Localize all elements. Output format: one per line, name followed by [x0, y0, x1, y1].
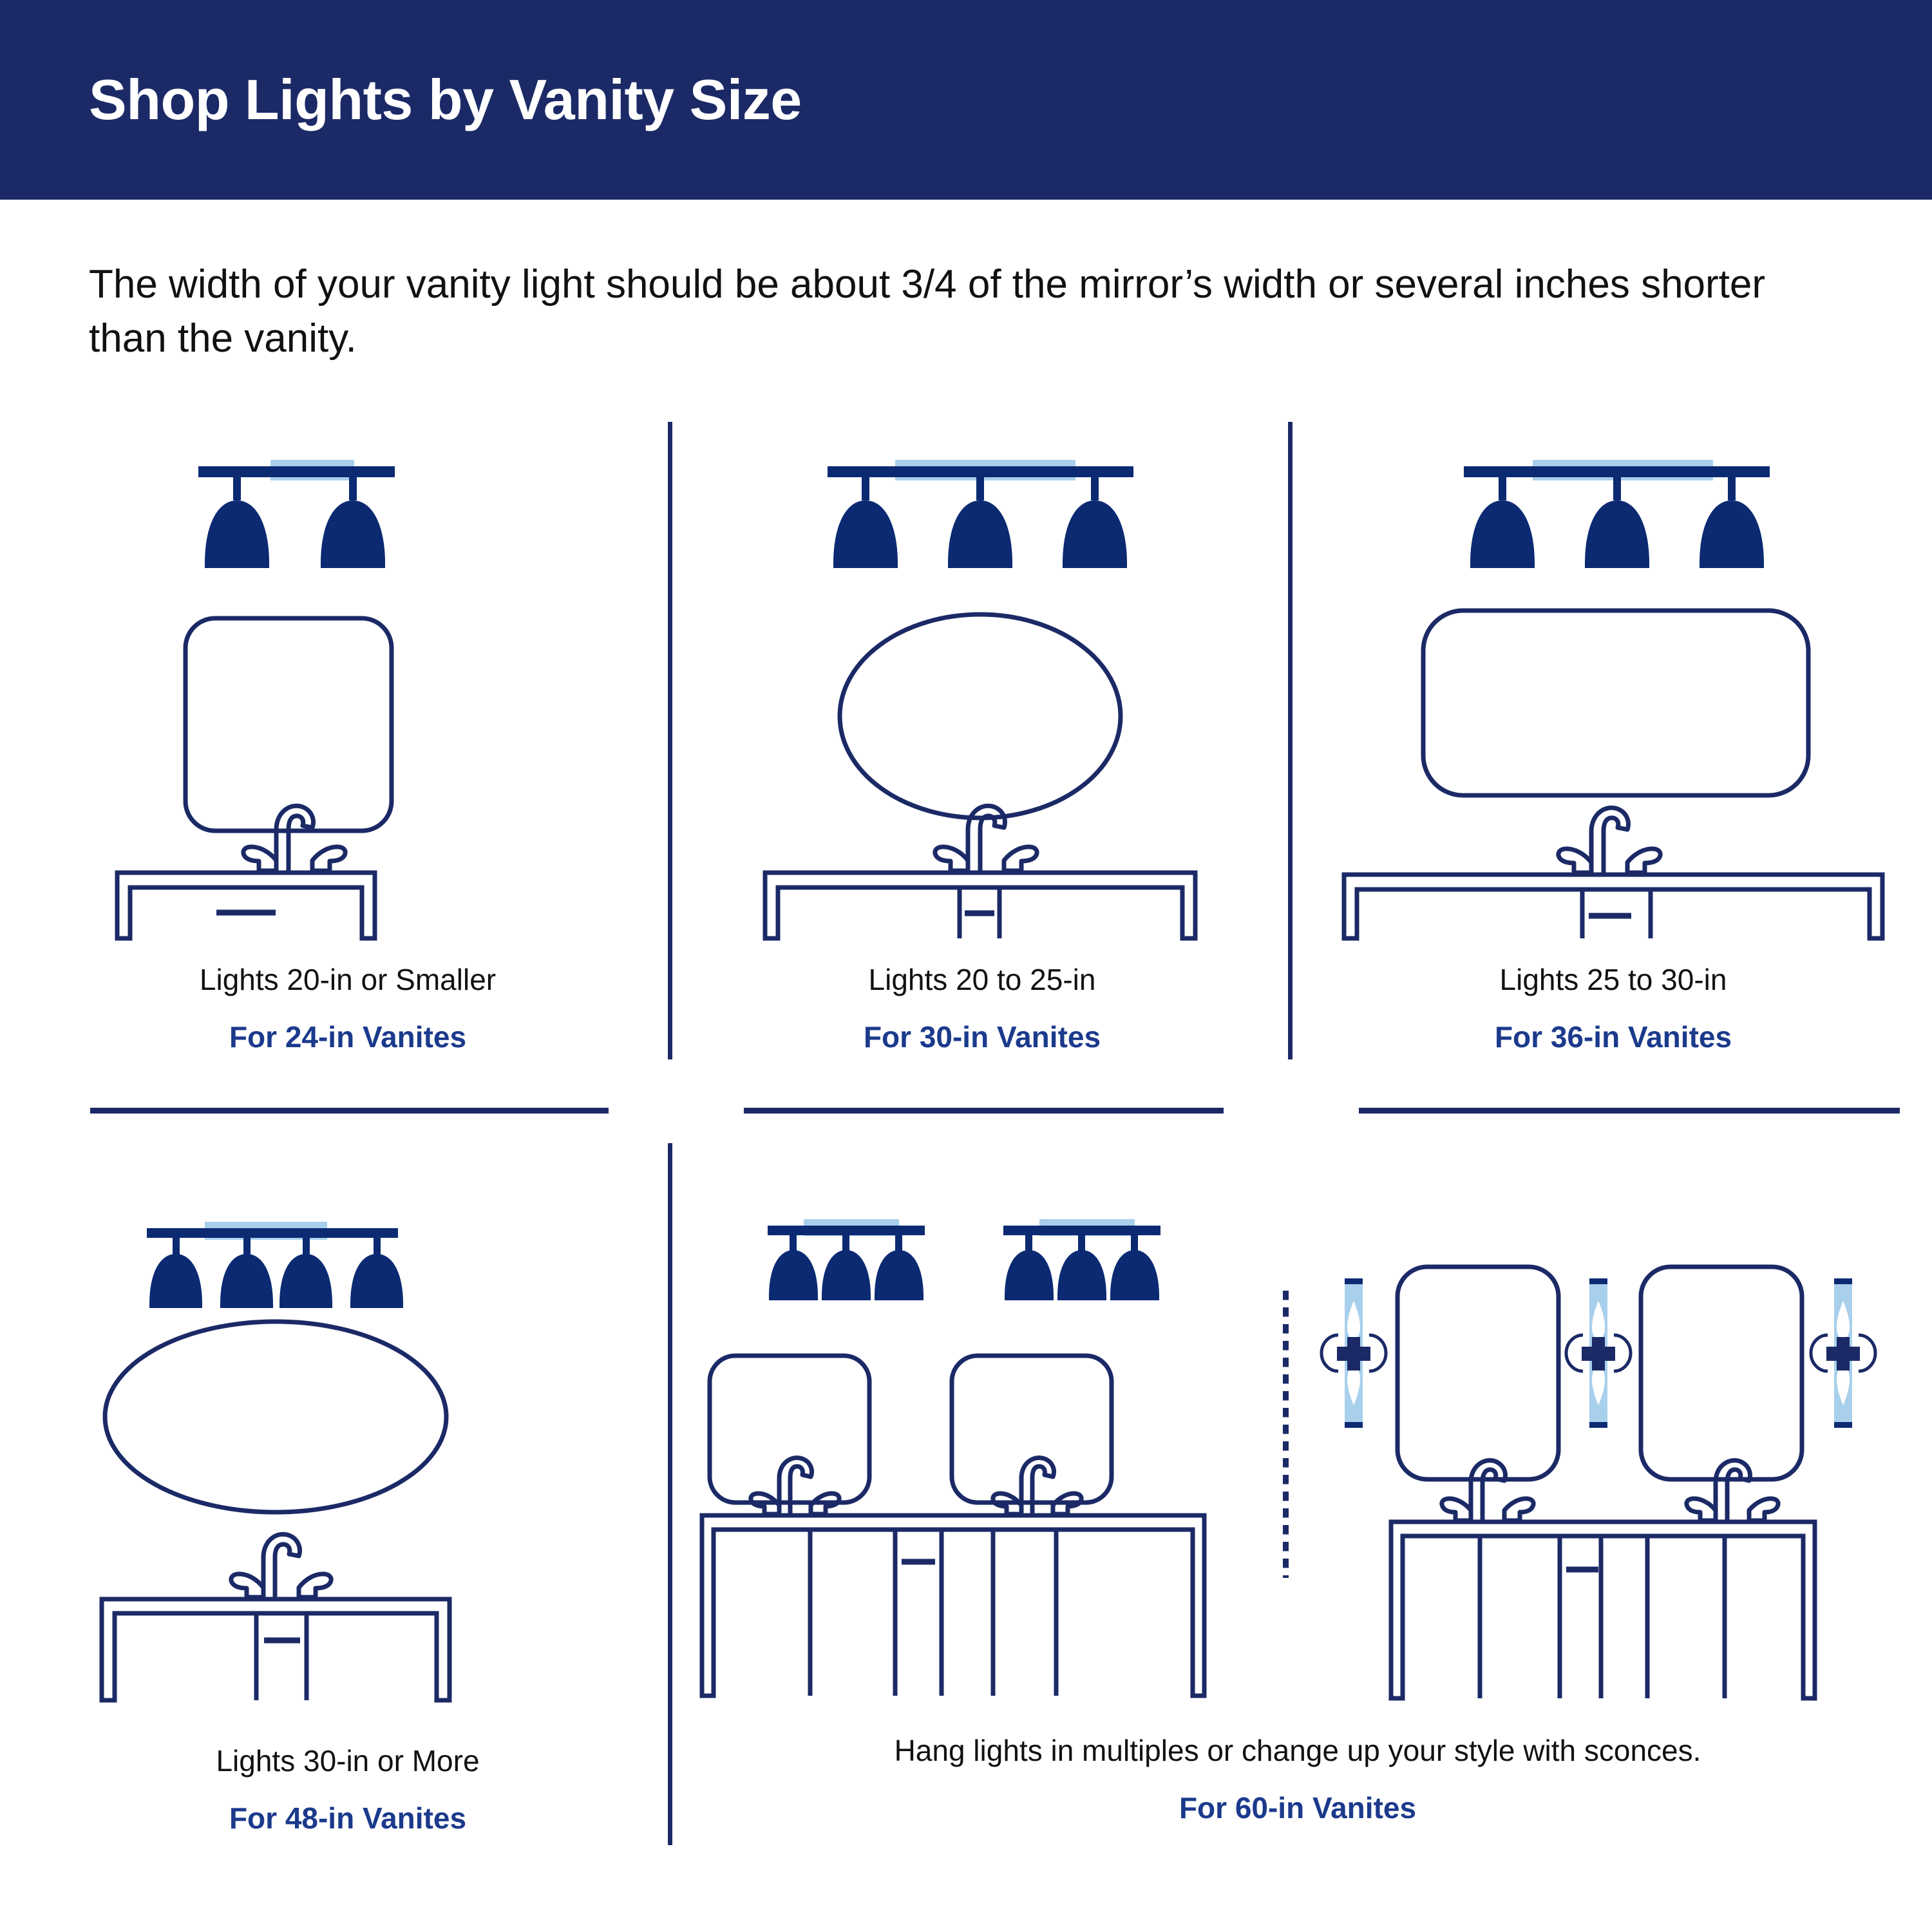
light-shade-icon — [1700, 500, 1764, 568]
panel-36in-caption-sub: For 36-in Vanites — [1330, 1020, 1897, 1055]
vanity-cabinet-icon — [765, 873, 1195, 938]
vanity-illustration-48in — [90, 1214, 605, 1703]
page-header: Shop Lights by Vanity Size — [0, 0, 1932, 200]
vanity-cabinet-icon — [102, 1599, 450, 1700]
light-shade-icon — [1585, 500, 1649, 568]
light-shade-icon — [205, 500, 269, 568]
faucet-icon — [993, 1457, 1081, 1515]
vanity-illustration-36in — [1330, 451, 1897, 940]
wall-sconce-icon — [1566, 1278, 1631, 1428]
wall-sconce-icon — [1321, 1278, 1386, 1428]
panel-48in-caption-sub: For 48-in Vanites — [90, 1801, 605, 1836]
divider-vertical-top-1 — [668, 422, 672, 1059]
faucet-icon — [1442, 1461, 1533, 1522]
mirror-icon — [1397, 1267, 1558, 1479]
light-shade-icon — [149, 1254, 202, 1308]
vanity-cabinet-icon — [117, 873, 375, 938]
panel-30in-illustration — [708, 451, 1256, 940]
panel-60in-illustration — [696, 1214, 1900, 1703]
divider-horizontal-1 — [90, 1108, 609, 1114]
light-shade-icon — [875, 1250, 923, 1300]
divider-horizontal-3 — [1359, 1108, 1900, 1114]
panel-24in-illustration — [90, 451, 605, 940]
panel-30in-caption-sub: For 30-in Vanites — [708, 1020, 1256, 1055]
divider-vertical-top-2 — [1288, 422, 1293, 1059]
divider-horizontal-2 — [744, 1108, 1224, 1114]
panel-60in-caption-main: Hang lights in multiples or change up yo… — [696, 1733, 1900, 1769]
panel-48in-caption-main: Lights 30-in or More — [90, 1743, 605, 1779]
mirror-icon — [105, 1322, 446, 1512]
panel-30in: Lights 20 to 25-in For 30-in Vanites — [708, 451, 1256, 1055]
vanity-light-bar-icon — [1003, 1219, 1160, 1300]
light-shade-icon — [1005, 1250, 1054, 1300]
divider-vertical-bottom — [668, 1143, 672, 1845]
vanity-light-bar-icon — [198, 460, 395, 568]
panel-60in: Hang lights in multiples or change up yo… — [696, 1214, 1900, 1826]
vanity-illustration-60in — [696, 1214, 1900, 1703]
panel-36in-illustration — [1330, 451, 1897, 940]
faucet-icon — [1558, 808, 1660, 875]
panel-48in: Lights 30-in or More For 48-in Vanites — [90, 1214, 605, 1836]
light-shade-icon — [948, 500, 1012, 568]
wall-sconce-icon — [1811, 1278, 1875, 1428]
vanity-cabinet-icon — [1391, 1522, 1815, 1698]
mirror-icon — [840, 614, 1121, 818]
light-shade-icon — [279, 1254, 332, 1308]
light-shade-icon — [1110, 1250, 1159, 1300]
vanity-light-bar-icon — [147, 1222, 403, 1308]
intro-paragraph: The width of your vanity light should be… — [89, 258, 1815, 365]
light-shade-icon — [833, 500, 898, 568]
light-shade-icon — [822, 1250, 871, 1300]
panel-36in-caption-main: Lights 25 to 30-in — [1330, 962, 1897, 998]
panel-48in-illustration — [90, 1214, 605, 1703]
panel-36in: Lights 25 to 30-in For 36-in Vanites — [1330, 451, 1897, 1055]
light-shade-icon — [321, 500, 385, 568]
vanity-illustration-30in — [708, 451, 1256, 940]
vanity-light-bar-icon — [828, 460, 1133, 568]
sconce-scene — [1321, 1267, 1875, 1698]
light-shade-icon — [1470, 500, 1535, 568]
light-shade-icon — [1057, 1250, 1106, 1300]
page-title: Shop Lights by Vanity Size — [89, 71, 802, 128]
panel-24in-caption-sub: For 24-in Vanites — [90, 1020, 605, 1055]
panel-24in-caption-main: Lights 20-in or Smaller — [90, 962, 605, 998]
light-shade-icon — [1063, 500, 1127, 568]
mirror-icon — [185, 618, 392, 831]
panel-60in-caption-sub: For 60-in Vanites — [696, 1790, 1900, 1826]
faucet-icon — [1687, 1461, 1778, 1522]
faucet-icon — [231, 1534, 331, 1599]
vanity-light-bar-icon — [1464, 460, 1770, 568]
faucet-icon — [243, 806, 345, 873]
vanity-cabinet-icon — [1344, 875, 1882, 938]
faucet-icon — [751, 1457, 839, 1515]
mirror-icon — [1641, 1267, 1802, 1479]
light-shade-icon — [220, 1254, 273, 1308]
light-shade-icon — [769, 1250, 818, 1300]
panel-30in-caption-main: Lights 20 to 25-in — [708, 962, 1256, 998]
vanity-illustration-24in — [90, 451, 605, 940]
mirror-icon — [1423, 611, 1808, 795]
panel-24in: Lights 20-in or Smaller For 24-in Vanite… — [90, 451, 605, 1055]
infographic-page: Shop Lights by Vanity Size The width of … — [0, 0, 1932, 1916]
vanity-light-bar-icon — [768, 1219, 925, 1300]
multiple-lights-scene — [702, 1219, 1204, 1696]
light-shade-icon — [350, 1254, 403, 1308]
vanity-cabinet-icon — [702, 1515, 1204, 1696]
